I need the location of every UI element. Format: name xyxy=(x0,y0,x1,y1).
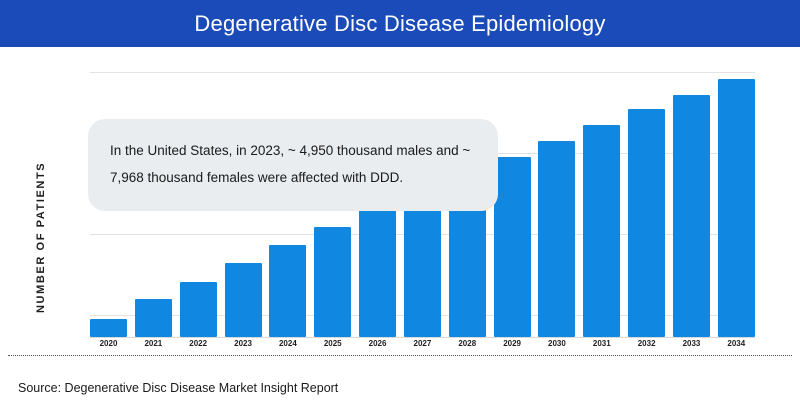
x-tick-label-2032: 2032 xyxy=(628,339,665,348)
bar-2024[interactable] xyxy=(269,245,306,337)
epidemiology-chart-slide: Degenerative Disc Disease Epidemiology N… xyxy=(0,0,800,420)
bar-2021[interactable] xyxy=(135,299,172,337)
bar-column[interactable] xyxy=(494,69,531,337)
x-tick-label-2025: 2025 xyxy=(314,339,351,348)
bar-2032[interactable] xyxy=(628,109,665,337)
bar-2025[interactable] xyxy=(314,227,351,337)
annotation-callout: In the United States, in 2023, ~ 4,950 t… xyxy=(88,119,498,211)
x-tick-label-2024: 2024 xyxy=(269,339,306,348)
x-tick-label-2027: 2027 xyxy=(404,339,441,348)
slide-footer: Source: Degenerative Disc Disease Market… xyxy=(0,356,800,420)
x-axis-tick-labels: 2020202120222023202420252026202720282029… xyxy=(90,339,755,348)
bar-column[interactable] xyxy=(628,69,665,337)
y-axis-title: NUMBER OF PATIENTS xyxy=(30,142,52,332)
x-tick-label-2029: 2029 xyxy=(494,339,531,348)
bar-2033[interactable] xyxy=(673,95,710,337)
x-tick-label-2023: 2023 xyxy=(225,339,262,348)
bar-column[interactable] xyxy=(538,69,575,337)
chart-container: NUMBER OF PATIENTS 202020212022202320242… xyxy=(0,47,800,348)
x-tick-label-2021: 2021 xyxy=(135,339,172,348)
bar-2029[interactable] xyxy=(494,157,531,337)
x-tick-label-2022: 2022 xyxy=(180,339,217,348)
bar-2023[interactable] xyxy=(225,263,262,337)
x-tick-label-2031: 2031 xyxy=(583,339,620,348)
bar-2034[interactable] xyxy=(718,79,755,337)
bar-column[interactable] xyxy=(583,69,620,337)
bar-2030[interactable] xyxy=(538,141,575,337)
bar-2022[interactable] xyxy=(180,282,217,337)
x-tick-label-2026: 2026 xyxy=(359,339,396,348)
x-tick-label-2030: 2030 xyxy=(538,339,575,348)
x-tick-label-2033: 2033 xyxy=(673,339,710,348)
x-tick-label-2020: 2020 xyxy=(90,339,127,348)
bar-2026[interactable] xyxy=(359,209,396,337)
bar-column[interactable] xyxy=(673,69,710,337)
bar-2020[interactable] xyxy=(90,319,127,337)
annotation-text: In the United States, in 2023, ~ 4,950 t… xyxy=(110,137,476,191)
x-tick-label-2034: 2034 xyxy=(718,339,755,348)
bar-column[interactable] xyxy=(718,69,755,337)
x-axis-line xyxy=(90,337,755,338)
bar-2031[interactable] xyxy=(583,125,620,337)
bar-2027[interactable] xyxy=(404,192,441,337)
x-tick-label-2028: 2028 xyxy=(449,339,486,348)
source-text: Source: Degenerative Disc Disease Market… xyxy=(18,381,338,395)
slide-header: Degenerative Disc Disease Epidemiology xyxy=(0,0,800,47)
page-title: Degenerative Disc Disease Epidemiology xyxy=(194,11,605,37)
